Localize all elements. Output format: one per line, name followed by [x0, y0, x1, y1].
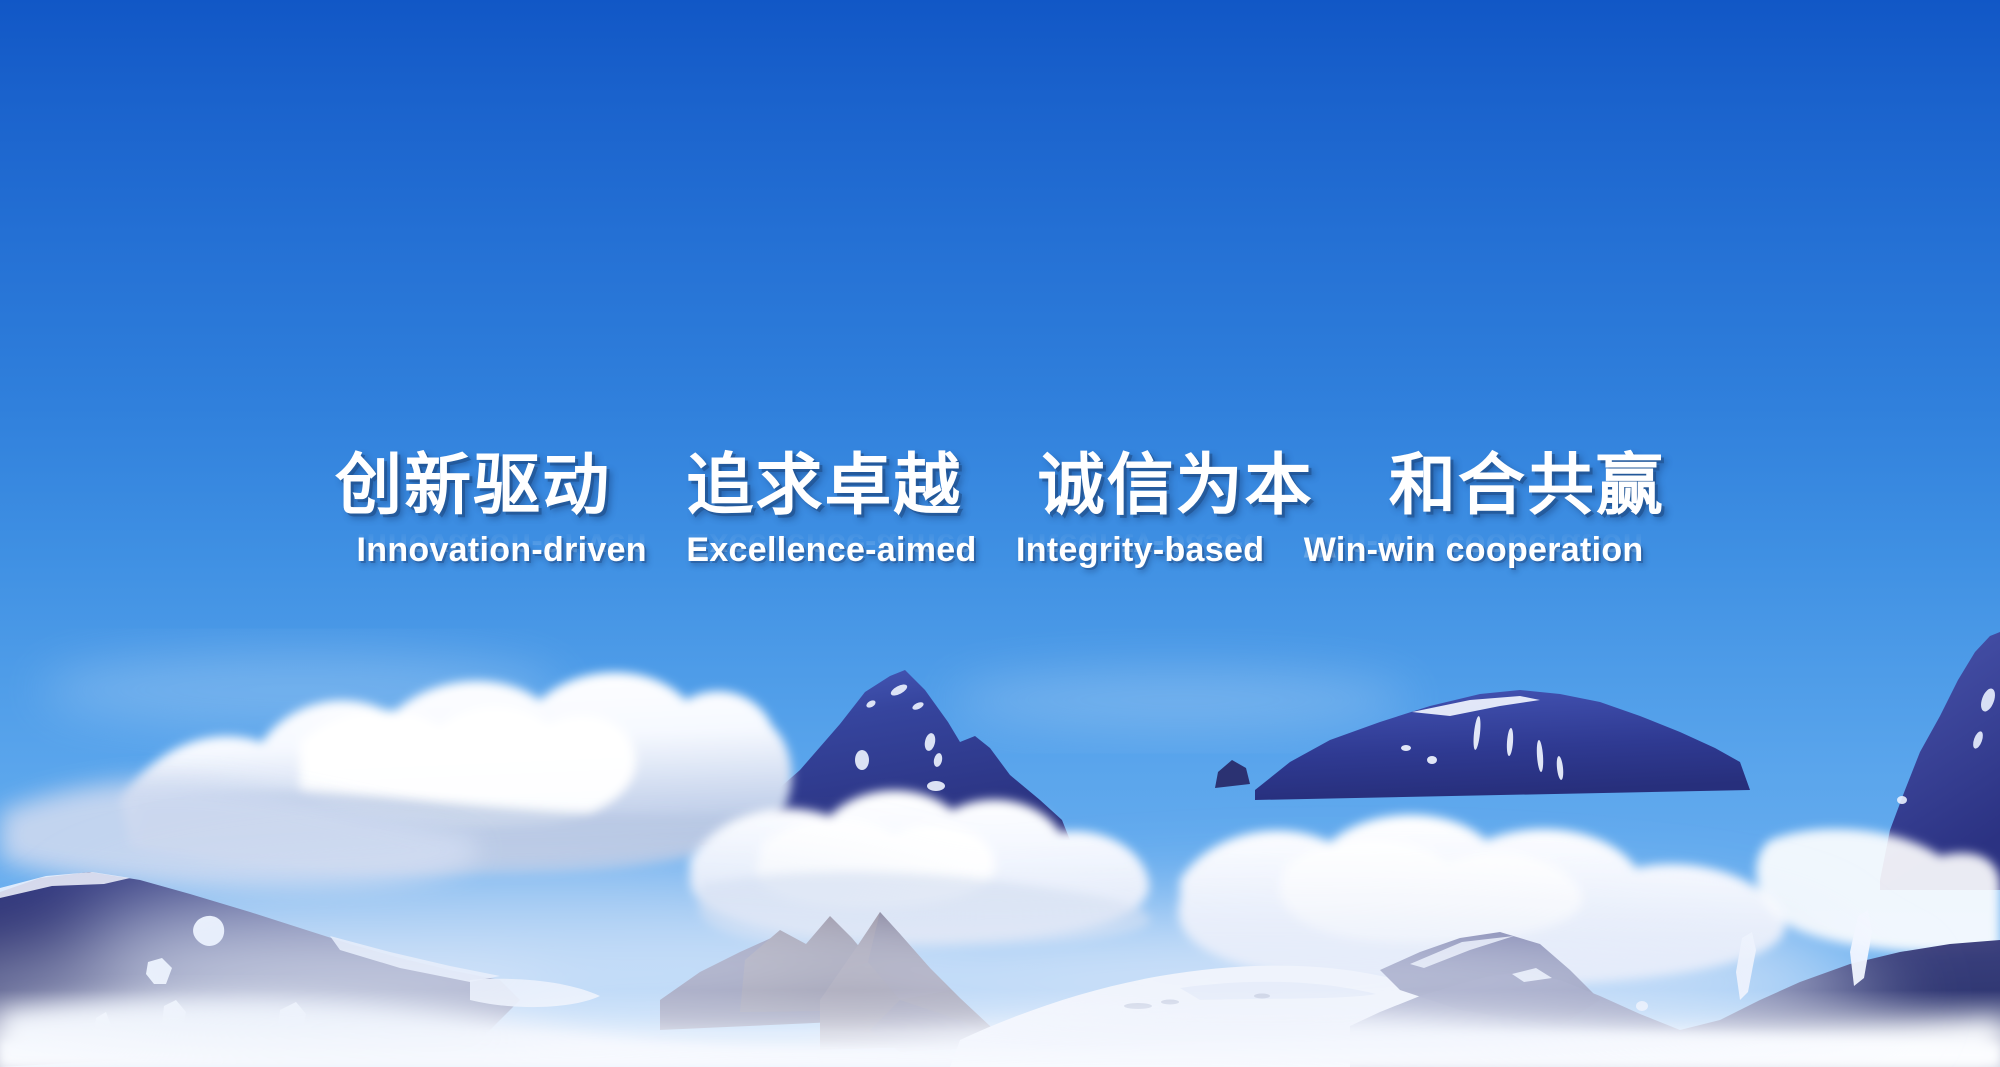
mountain-scenery: [0, 0, 2000, 1067]
banner-hero: 创新驱动 追求卓越 诚信为本 和合共赢 Innovation-driven Ex…: [0, 0, 2000, 1067]
